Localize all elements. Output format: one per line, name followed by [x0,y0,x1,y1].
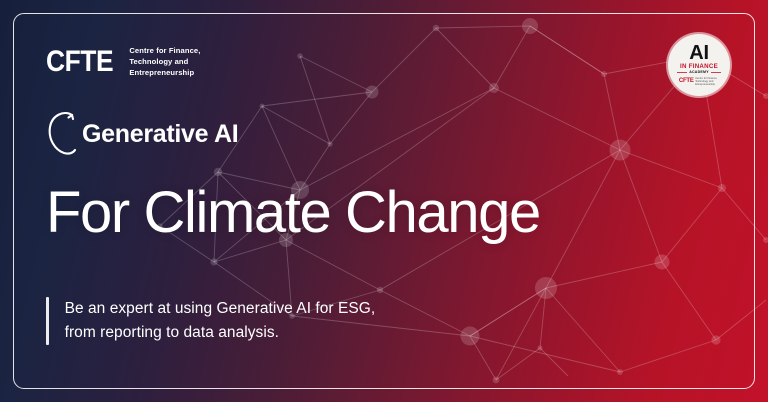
badge-academy-row: ACADEMY [677,71,721,75]
badge-title: AI [689,43,708,63]
accent-bar [46,297,49,345]
badge-academy-label: ACADEMY [689,71,709,75]
badge-rule-right [711,72,721,73]
badge-rule-left [677,72,687,73]
badge-brand-lockup: CFTE Centre for Finance, Technology and … [679,77,719,87]
subtitle-block: Be an expert at using Generative AI for … [46,297,375,345]
badge-cfte-tagline: Centre for Finance, Technology and Entre… [695,77,719,87]
speech-loop-icon [46,108,86,160]
eyebrow-label: Generative AI [82,122,238,147]
cfte-logo: CFTE Centre for Finance, Technology and … [46,46,212,78]
eyebrow-row: Generative AI [46,108,238,160]
page-title: For Climate Change [46,183,540,243]
promo-banner: CFTE Centre for Finance, Technology and … [0,0,768,402]
ai-in-finance-academy-badge: AI IN FINANCE ACADEMY CFTE Centre for Fi… [668,34,730,96]
cfte-wordmark: CFTE [46,48,113,77]
subtitle-text: Be an expert at using Generative AI for … [65,297,376,345]
cfte-tagline: Centre for Finance, Technology and Entre… [128,46,212,78]
badge-cfte-wordmark: CFTE [679,78,694,84]
